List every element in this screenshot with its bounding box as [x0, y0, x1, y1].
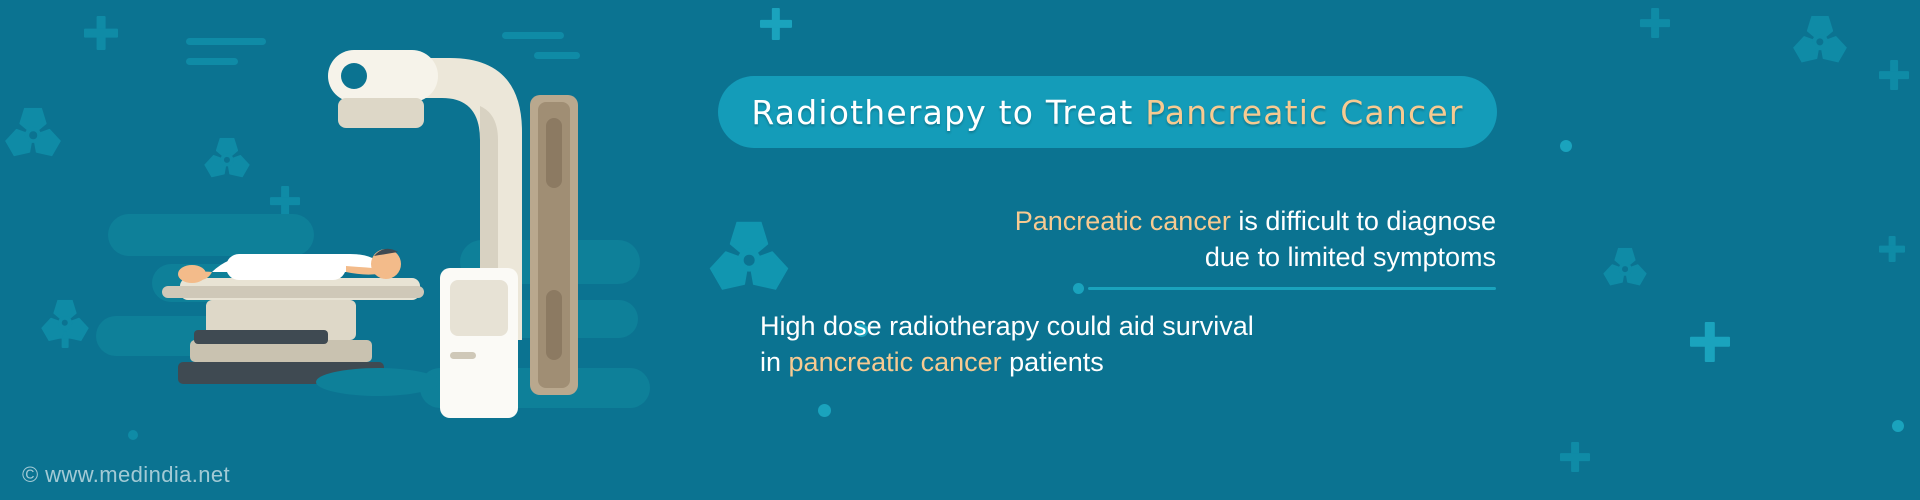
statement-two-line-1: High dose radiotherapy could aid surviva… [760, 308, 1254, 344]
highlight-phrase: Pancreatic cancer [1015, 206, 1231, 236]
infographic-banner: Radiotherapy to Treat Pancreatic Cancer … [0, 0, 1920, 500]
statement-two: High dose radiotherapy could aid surviva… [760, 308, 1254, 380]
plus-icon [1560, 442, 1590, 472]
cabinet-handle [450, 352, 476, 359]
decorative-dot [1560, 140, 1572, 152]
divider-dot [1073, 283, 1084, 294]
statement-text: patients [1002, 347, 1104, 377]
statement-two-line-2: in pancreatic cancer patients [760, 344, 1254, 380]
column-slot-bottom [546, 290, 562, 360]
cabinet-panel [450, 280, 508, 336]
page-title: Radiotherapy to Treat Pancreatic Cancer [751, 93, 1463, 132]
watermark: © www.medindia.net [22, 462, 230, 488]
patient-gown [226, 254, 346, 280]
plus-icon [1879, 236, 1905, 262]
statement-text: due to limited symptoms [1205, 242, 1496, 272]
section-divider [1088, 287, 1496, 290]
plus-icon [84, 16, 118, 50]
plus-icon [52, 322, 78, 348]
floor-shadow [316, 368, 440, 396]
statement-one-line-2: due to limited symptoms [1015, 239, 1496, 275]
decorative-dot [818, 404, 831, 417]
machine-svg [150, 40, 680, 440]
statement-text: is difficult to diagnose [1231, 206, 1496, 236]
couch-foot [194, 330, 328, 344]
title-highlight-part: Pancreatic Cancer [1145, 93, 1463, 132]
title-pill: Radiotherapy to Treat Pancreatic Cancer [718, 76, 1497, 148]
plus-icon [1879, 60, 1909, 90]
radiation-trefoil-icon [6, 108, 60, 162]
radiation-trefoil-icon [42, 300, 88, 346]
decorative-dot [1892, 420, 1904, 432]
plus-icon [1690, 322, 1730, 362]
title-white-part: Radiotherapy to Treat [751, 93, 1145, 132]
plus-icon [1640, 8, 1670, 38]
patient-feet [178, 265, 206, 283]
radiation-trefoil-icon [1794, 16, 1846, 68]
decorative-dash [502, 32, 564, 39]
highlight-phrase: pancreatic cancer [789, 347, 1002, 377]
statement-text: High dose radiotherapy could aid surviva… [760, 311, 1254, 341]
radiation-trefoil-icon [1604, 248, 1646, 290]
treatment-head-lens [341, 63, 367, 89]
decorative-dot [128, 430, 138, 440]
radiation-trefoil-icon [711, 222, 787, 298]
treatment-head-base [338, 98, 424, 128]
statement-one: Pancreatic cancer is difficult to diagno… [1015, 203, 1496, 275]
patient-couch-rail [162, 286, 424, 298]
plus-icon [760, 8, 792, 40]
statement-one-line-1: Pancreatic cancer is difficult to diagno… [1015, 203, 1496, 239]
column-slot-top [546, 118, 562, 188]
statement-text: in [760, 347, 789, 377]
